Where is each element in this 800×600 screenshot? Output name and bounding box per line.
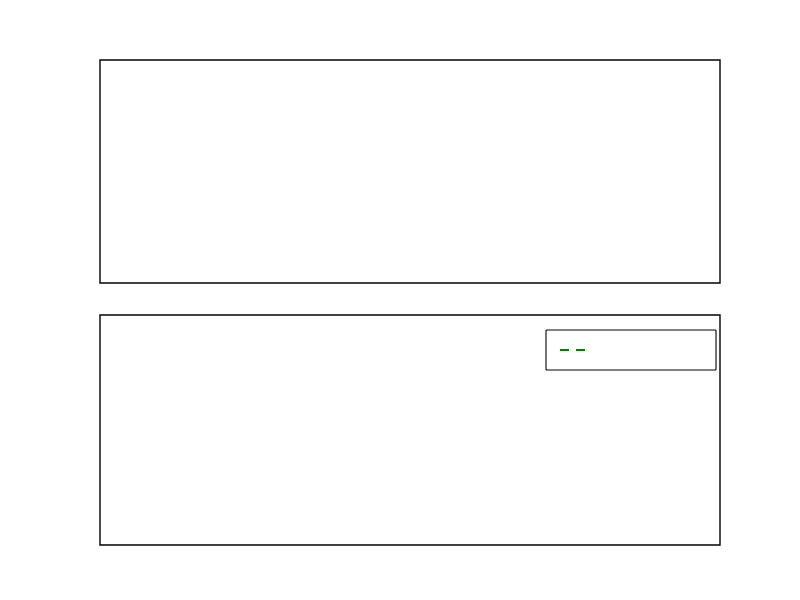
figure-canvas: [0, 0, 800, 600]
top-axes-frame: [100, 60, 720, 283]
matplotlib-figure: [0, 0, 800, 600]
top-panel-histogram: [100, 60, 720, 283]
legend[interactable]: [546, 330, 716, 370]
legend-box: [546, 330, 716, 370]
bottom-panel-cumulative: [0, 0, 720, 545]
